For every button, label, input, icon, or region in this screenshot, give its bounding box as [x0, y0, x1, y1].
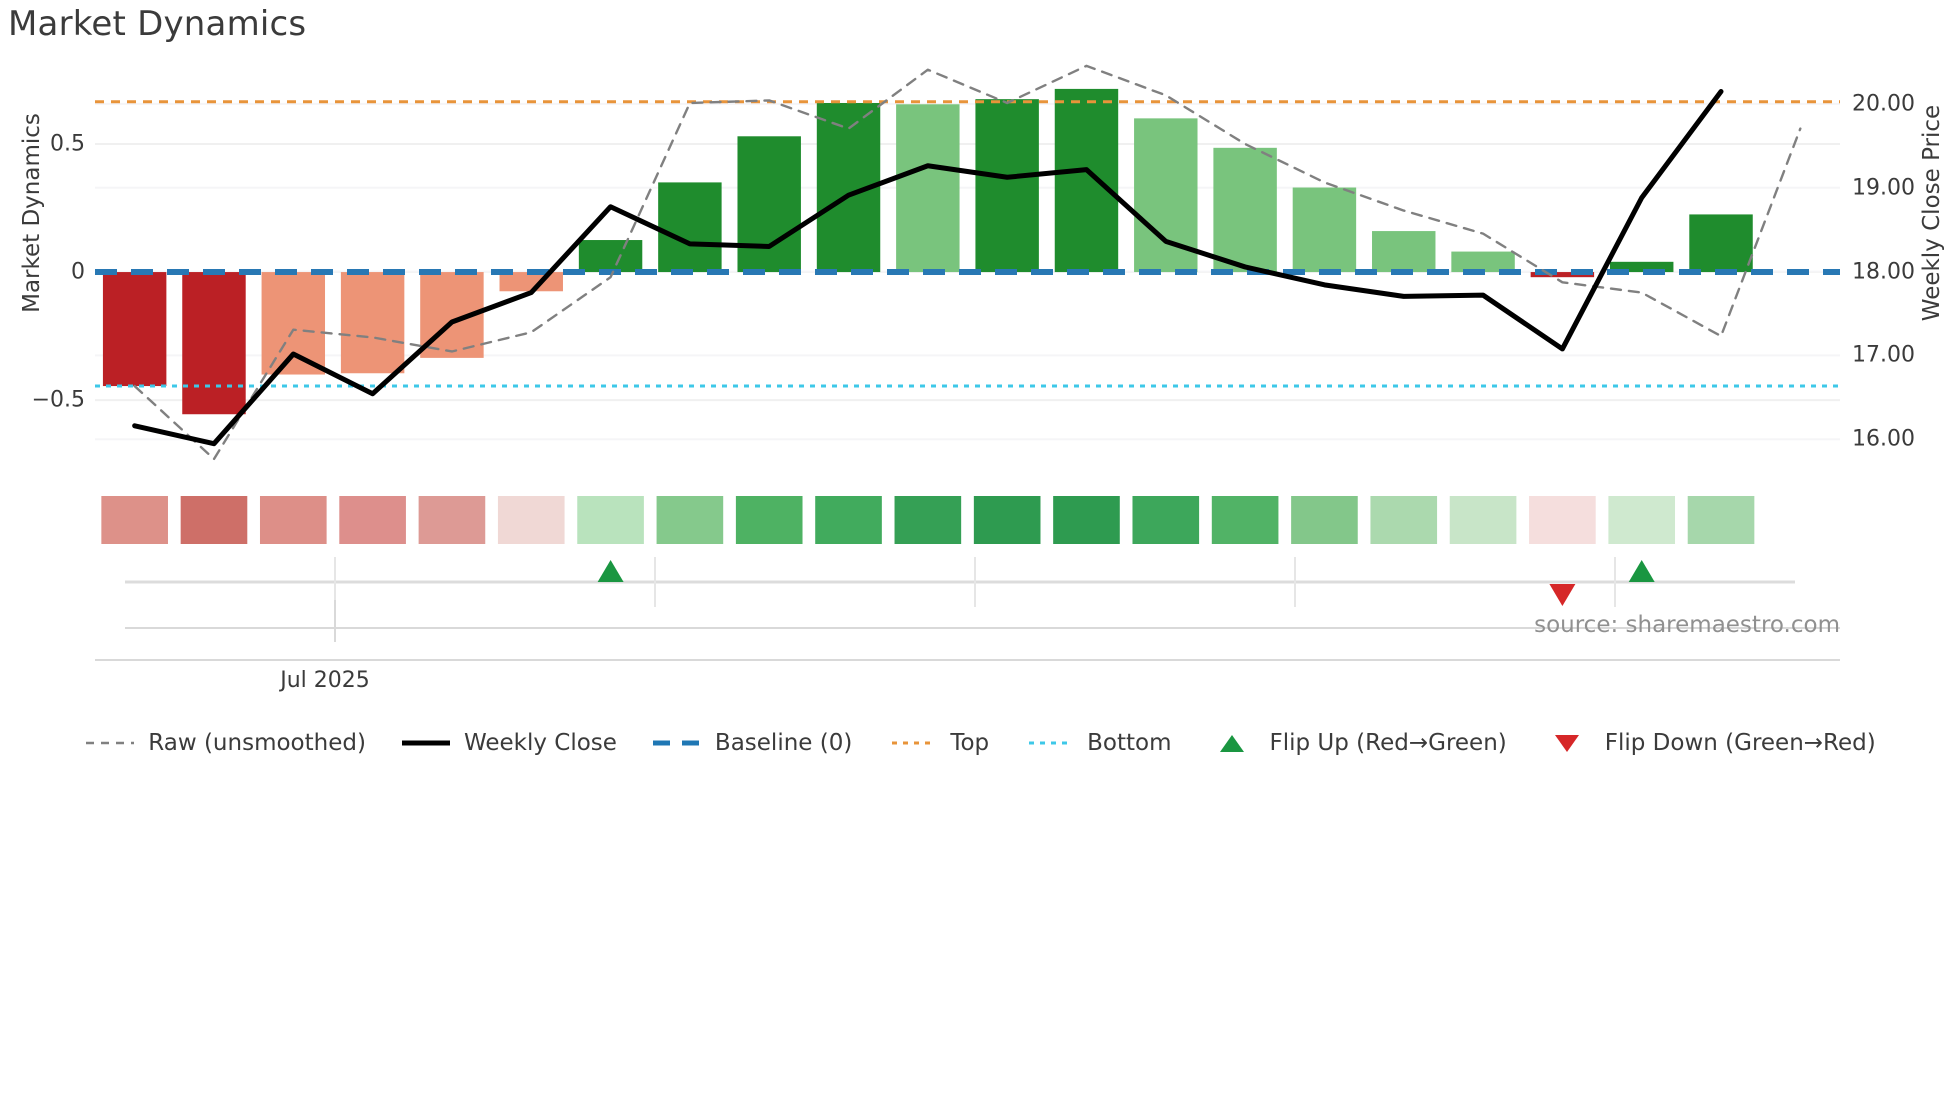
y-tick-right: 16.00: [1852, 427, 1915, 452]
heatmap-cell: [260, 496, 327, 544]
y-tick-right: 18.00: [1852, 259, 1915, 284]
bar: [182, 272, 245, 414]
legend-label: Flip Up (Red→Green): [1270, 730, 1507, 756]
heatmap-cell: [1608, 496, 1675, 544]
heatmap-cell: [1450, 496, 1517, 544]
chart-legend: Raw (unsmoothed)Weekly CloseBaseline (0)…: [0, 730, 1960, 756]
bar: [262, 272, 325, 374]
legend-item[interactable]: Raw (unsmoothed): [84, 730, 366, 756]
heatmap-cell: [895, 496, 962, 544]
heatmap-cell: [498, 496, 565, 544]
heatmap-cell: [577, 496, 644, 544]
chart-svg: [95, 62, 1840, 477]
legend-label: Bottom: [1087, 730, 1171, 756]
heatmap-cell: [736, 496, 803, 544]
bar: [737, 136, 800, 272]
y-axis-label-left: Market Dynamics: [19, 93, 45, 333]
heatmap-cell: [657, 496, 724, 544]
flip-up-marker[interactable]: [598, 560, 624, 582]
page-title: Market Dynamics: [8, 4, 306, 44]
heatmap-cell: [1370, 496, 1437, 544]
heatmap-cell: [419, 496, 486, 544]
dotted-line-icon: [1023, 732, 1075, 754]
heatmap-cell: [339, 496, 406, 544]
legend-item[interactable]: Weekly Close: [400, 730, 617, 756]
solid-line-icon: [400, 732, 452, 754]
bar: [579, 240, 642, 272]
legend-item[interactable]: Bottom: [1023, 730, 1171, 756]
heatmap-cell: [101, 496, 168, 544]
heatmap-cell: [1688, 496, 1755, 544]
bar: [1689, 214, 1752, 272]
bar: [1213, 148, 1276, 272]
y-tick-left: −0.5: [32, 388, 85, 413]
chart-plot-area: 0.50−0.520.0019.0018.0017.0016.00: [95, 62, 1840, 477]
legend-label: Raw (unsmoothed): [148, 730, 366, 756]
dashed-line-thick-icon: [651, 732, 703, 754]
y-tick-left: 0.5: [50, 131, 85, 156]
dashed-line-icon: [84, 732, 136, 754]
bar: [1451, 252, 1514, 272]
legend-label: Top: [950, 730, 989, 756]
legend-item[interactable]: Baseline (0): [651, 730, 852, 756]
bar: [896, 104, 959, 272]
heatmap-cell: [1291, 496, 1358, 544]
heatmap-svg: [95, 490, 1840, 550]
legend-item[interactable]: Flip Down (Green→Red): [1541, 730, 1876, 756]
triangle-down-icon: [1541, 732, 1593, 754]
heatmap-cell: [181, 496, 248, 544]
bar: [975, 99, 1038, 272]
heatmap-cell: [974, 496, 1041, 544]
dotted-line-icon: [886, 732, 938, 754]
bar: [1372, 231, 1435, 272]
bar: [1293, 188, 1356, 273]
y-tick-right: 17.00: [1852, 343, 1915, 368]
heatmap-cell: [815, 496, 882, 544]
legend-label: Baseline (0): [715, 730, 852, 756]
heatmap-cell: [1529, 496, 1596, 544]
bar: [1055, 89, 1118, 272]
y-tick-left: 0: [71, 260, 85, 285]
legend-item[interactable]: Flip Up (Red→Green): [1206, 730, 1507, 756]
flip-up-marker[interactable]: [1629, 560, 1655, 582]
x-axis-tick-label: Jul 2025: [235, 668, 415, 693]
legend-item[interactable]: Top: [886, 730, 989, 756]
source-credit: source: sharemaestro.com: [1180, 612, 1840, 638]
heatmap-cell: [1053, 496, 1120, 544]
bar: [658, 182, 721, 272]
heatmap-cell: [1212, 496, 1279, 544]
heatmap-cell: [1132, 496, 1199, 544]
y-tick-right: 19.00: [1852, 175, 1915, 200]
y-tick-right: 20.00: [1852, 91, 1915, 116]
bar: [103, 272, 166, 386]
legend-label: Flip Down (Green→Red): [1605, 730, 1876, 756]
triangle-up-icon: [1206, 732, 1258, 754]
regime-heatmap-strip: [95, 490, 1840, 550]
y-axis-label-right: Weekly Close Price: [1919, 93, 1945, 333]
bar: [341, 272, 404, 373]
legend-label: Weekly Close: [464, 730, 617, 756]
